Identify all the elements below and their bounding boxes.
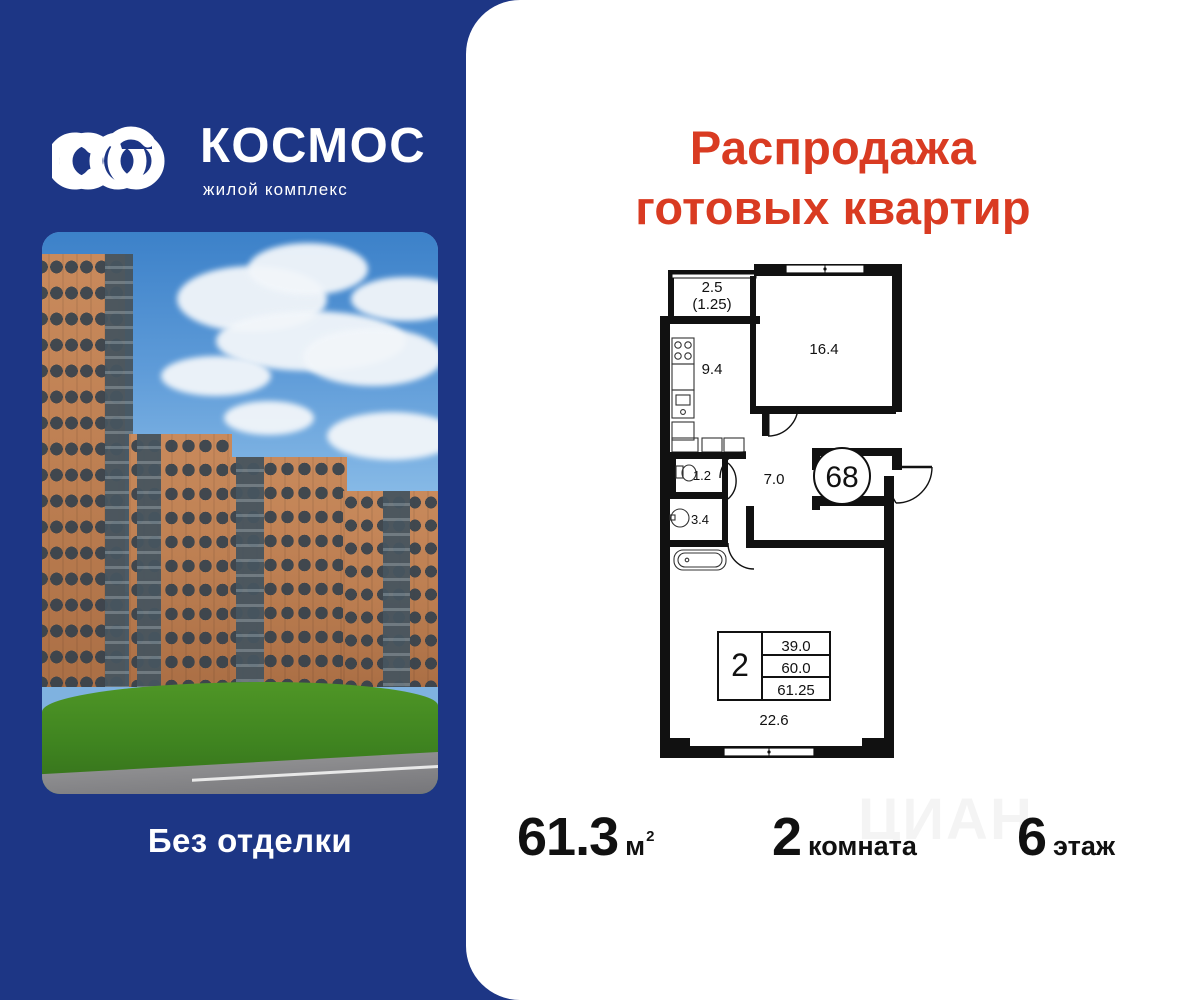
floor-plan-diagram: .w { fill:#111111; } .rm { fill:#ffffff;… (646, 252, 936, 782)
stat-floor-value: 6 (1017, 806, 1046, 868)
apartment-number-label: 68 (825, 461, 858, 494)
spec-living-value: 39.0 (781, 638, 810, 655)
cloud-shape (224, 401, 314, 435)
stat-floor: 6 этаж (1017, 806, 1115, 868)
brand-text: КОСМОС жилой комплекс (200, 122, 426, 200)
building-glazing (236, 457, 264, 687)
stat-area-superscript: 2 (646, 828, 654, 845)
left-brand-panel: КОСМОС жилой комплекс (0, 0, 500, 1000)
headline-line-1: Распродажа (466, 118, 1200, 178)
cloud-shape (303, 328, 438, 386)
stat-rooms-value: 2 (772, 806, 801, 868)
spec-rooms-value: 2 (731, 647, 749, 683)
stat-area: 61.3 м 2 (517, 806, 653, 868)
building-photo (42, 232, 438, 794)
brand-name: КОСМОС (200, 122, 426, 171)
stat-floor-unit: этаж (1053, 831, 1115, 862)
building-glazing (137, 434, 161, 687)
stat-rooms-unit: комната (808, 831, 917, 862)
spec-with-balcony-value: 61.25 (777, 682, 815, 699)
bedroom-area-label: 16.4 (809, 341, 838, 358)
kitchen-area-label: 9.4 (702, 361, 723, 378)
page-title: Распродажа готовых квартир (466, 118, 1200, 238)
hall-area-label: 7.0 (764, 471, 785, 488)
stat-area-unit: м (625, 831, 645, 862)
brand-subtitle: жилой комплекс (203, 180, 348, 200)
bathroom-area-label: 3.4 (691, 512, 709, 527)
building-glazing (383, 491, 411, 688)
headline-line-2: готовых квартир (466, 178, 1200, 238)
balcony-coefficient-label: (1.25) (692, 296, 731, 313)
photo-caption: Без отделки (0, 822, 500, 860)
spec-total-value: 60.0 (781, 660, 810, 677)
stats-row: 61.3 м 2 2 комната 6 этаж (466, 806, 1200, 884)
living-room-area-label: 22.6 (759, 712, 788, 729)
balcony-area-label: 2.5 (702, 279, 723, 296)
stat-rooms: 2 комната (772, 806, 917, 868)
brand-block: КОСМОС жилой комплекс (52, 122, 426, 200)
right-content-panel: Распродажа готовых квартир .w { fill:#11… (466, 0, 1200, 1000)
infinity-loop-icon (52, 125, 180, 197)
spec-table: 2 39.0 60.0 61.25 (718, 632, 830, 700)
cloud-shape (161, 356, 271, 396)
stat-area-value: 61.3 (517, 806, 618, 868)
cloud-shape (248, 243, 368, 295)
